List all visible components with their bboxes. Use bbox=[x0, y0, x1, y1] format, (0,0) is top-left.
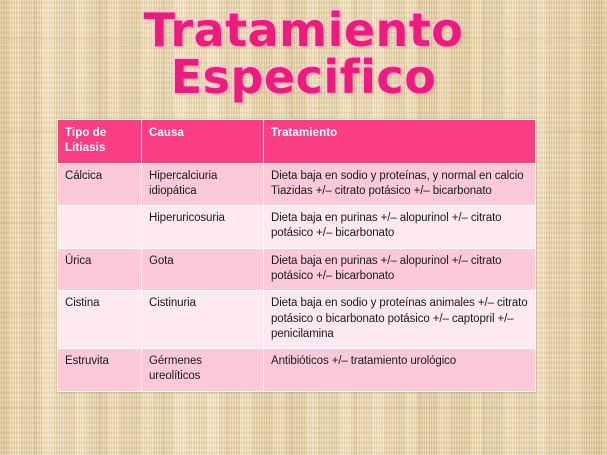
cell-tipo: Estruvita bbox=[58, 349, 142, 392]
column-header-tratamiento: Tratamiento bbox=[264, 120, 536, 164]
cell-tratamiento: Dieta baja en sodio y proteínas animales… bbox=[264, 291, 536, 349]
cell-tratamiento: Antibióticos +/– tratamiento urológico bbox=[264, 349, 536, 392]
cell-tipo: Cistina bbox=[58, 291, 142, 349]
cell-tratamiento: Dieta baja en sodio y proteínas, y norma… bbox=[264, 163, 536, 206]
cell-causa: Gota bbox=[142, 248, 264, 291]
cell-tipo: Cálcica bbox=[58, 163, 142, 206]
column-header-tipo-de-litiasis: Tipo de Litiasis bbox=[58, 120, 142, 164]
table-row: Estruvita Gérmenes ureolíticos Antibióti… bbox=[58, 349, 536, 392]
table-row: Cálcica Hipercalciuria idiopática Dieta … bbox=[58, 163, 536, 206]
cell-tipo: Úrica bbox=[58, 248, 142, 291]
cell-causa: Hiperuricosuria bbox=[142, 206, 264, 249]
column-header-causa: Causa bbox=[142, 120, 264, 164]
cell-tratamiento: Dieta baja en purinas +/– alopurinol +/–… bbox=[264, 248, 536, 291]
table-row: Cistina Cistinuria Dieta baja en sodio y… bbox=[58, 291, 536, 349]
table-row: Hiperuricosuria Dieta baja en purinas +/… bbox=[58, 206, 536, 249]
cell-causa: Gérmenes ureolíticos bbox=[142, 349, 264, 392]
cell-causa: Cistinuria bbox=[142, 291, 264, 349]
table-row: Úrica Gota Dieta baja en purinas +/– alo… bbox=[58, 248, 536, 291]
table-header-row: Tipo de Litiasis Causa Tratamiento bbox=[58, 120, 536, 164]
table-body: Cálcica Hipercalciuria idiopática Dieta … bbox=[58, 163, 536, 391]
cell-causa: Hipercalciuria idiopática bbox=[142, 163, 264, 206]
slide-canvas: Tratamiento Especifico Tipo de Litiasis … bbox=[0, 0, 607, 455]
treatment-table: Tipo de Litiasis Causa Tratamiento Cálci… bbox=[57, 119, 536, 392]
cell-tratamiento: Dieta baja en purinas +/– alopurinol +/–… bbox=[264, 206, 536, 249]
treatment-table-container: Tipo de Litiasis Causa Tratamiento Cálci… bbox=[57, 119, 535, 392]
cell-tipo bbox=[58, 206, 142, 249]
